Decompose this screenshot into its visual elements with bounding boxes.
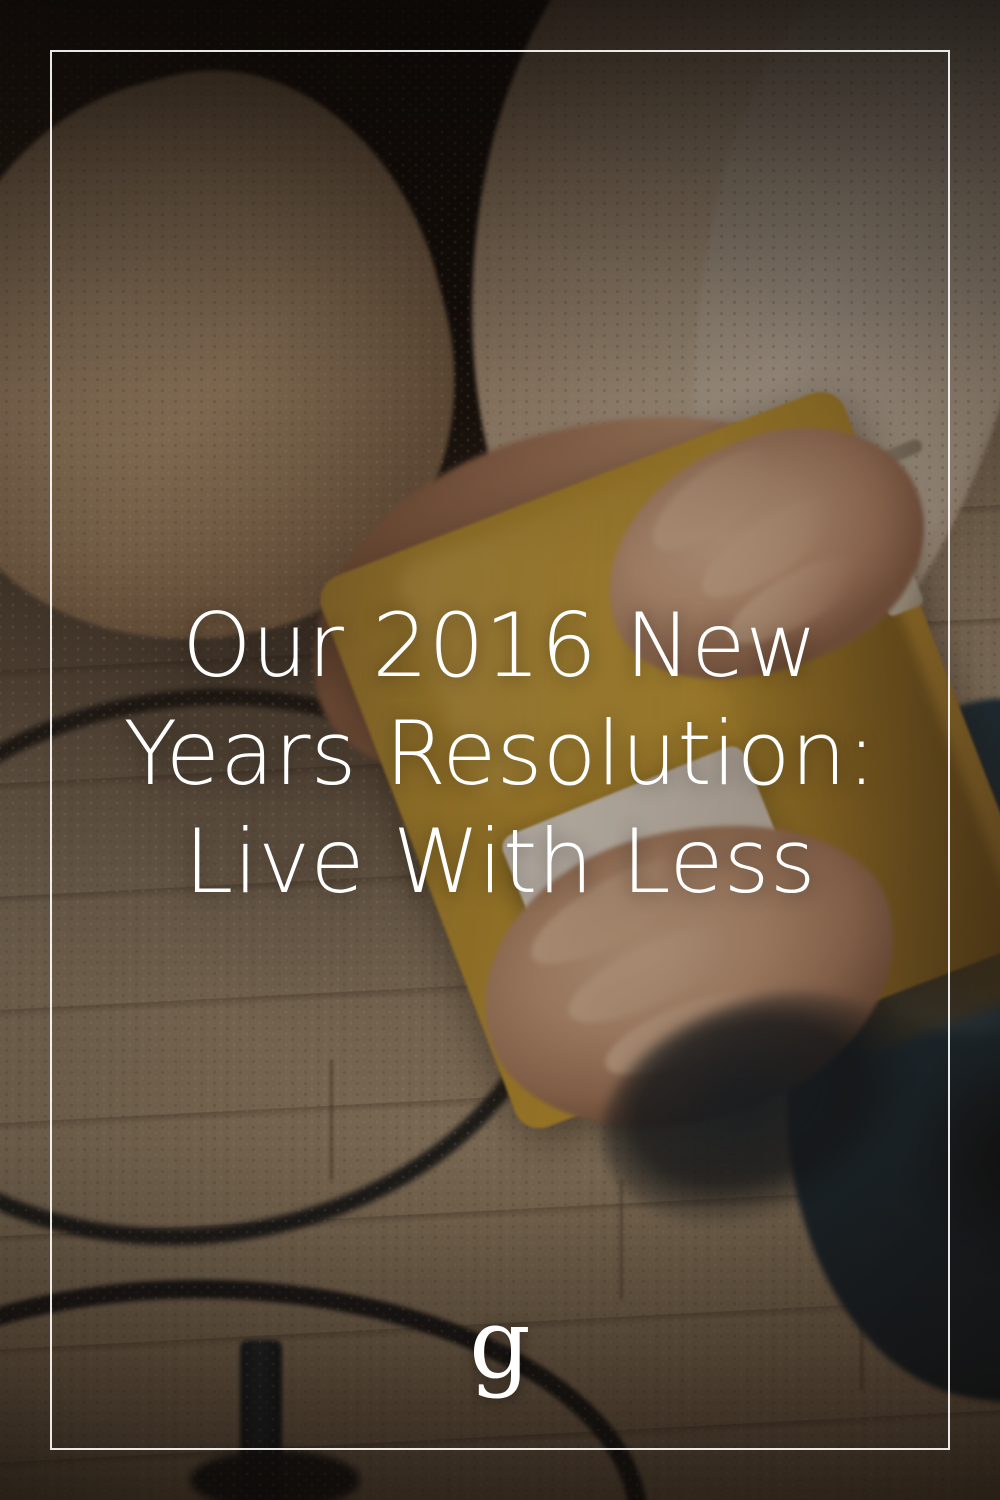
- headline-line-1: Our 2016 New: [70, 592, 930, 700]
- logo-g-glyph: g: [469, 1288, 530, 1400]
- pinterest-pin-graphic: Our 2016 New Years Resolution: Live With…: [0, 0, 1000, 1500]
- brand-logo: g: [0, 1296, 1000, 1392]
- headline-line-2: Years Resolution:: [70, 700, 930, 808]
- page-title: Our 2016 New Years Resolution: Live With…: [0, 592, 1000, 916]
- headline-line-3: Live With Less: [70, 808, 930, 916]
